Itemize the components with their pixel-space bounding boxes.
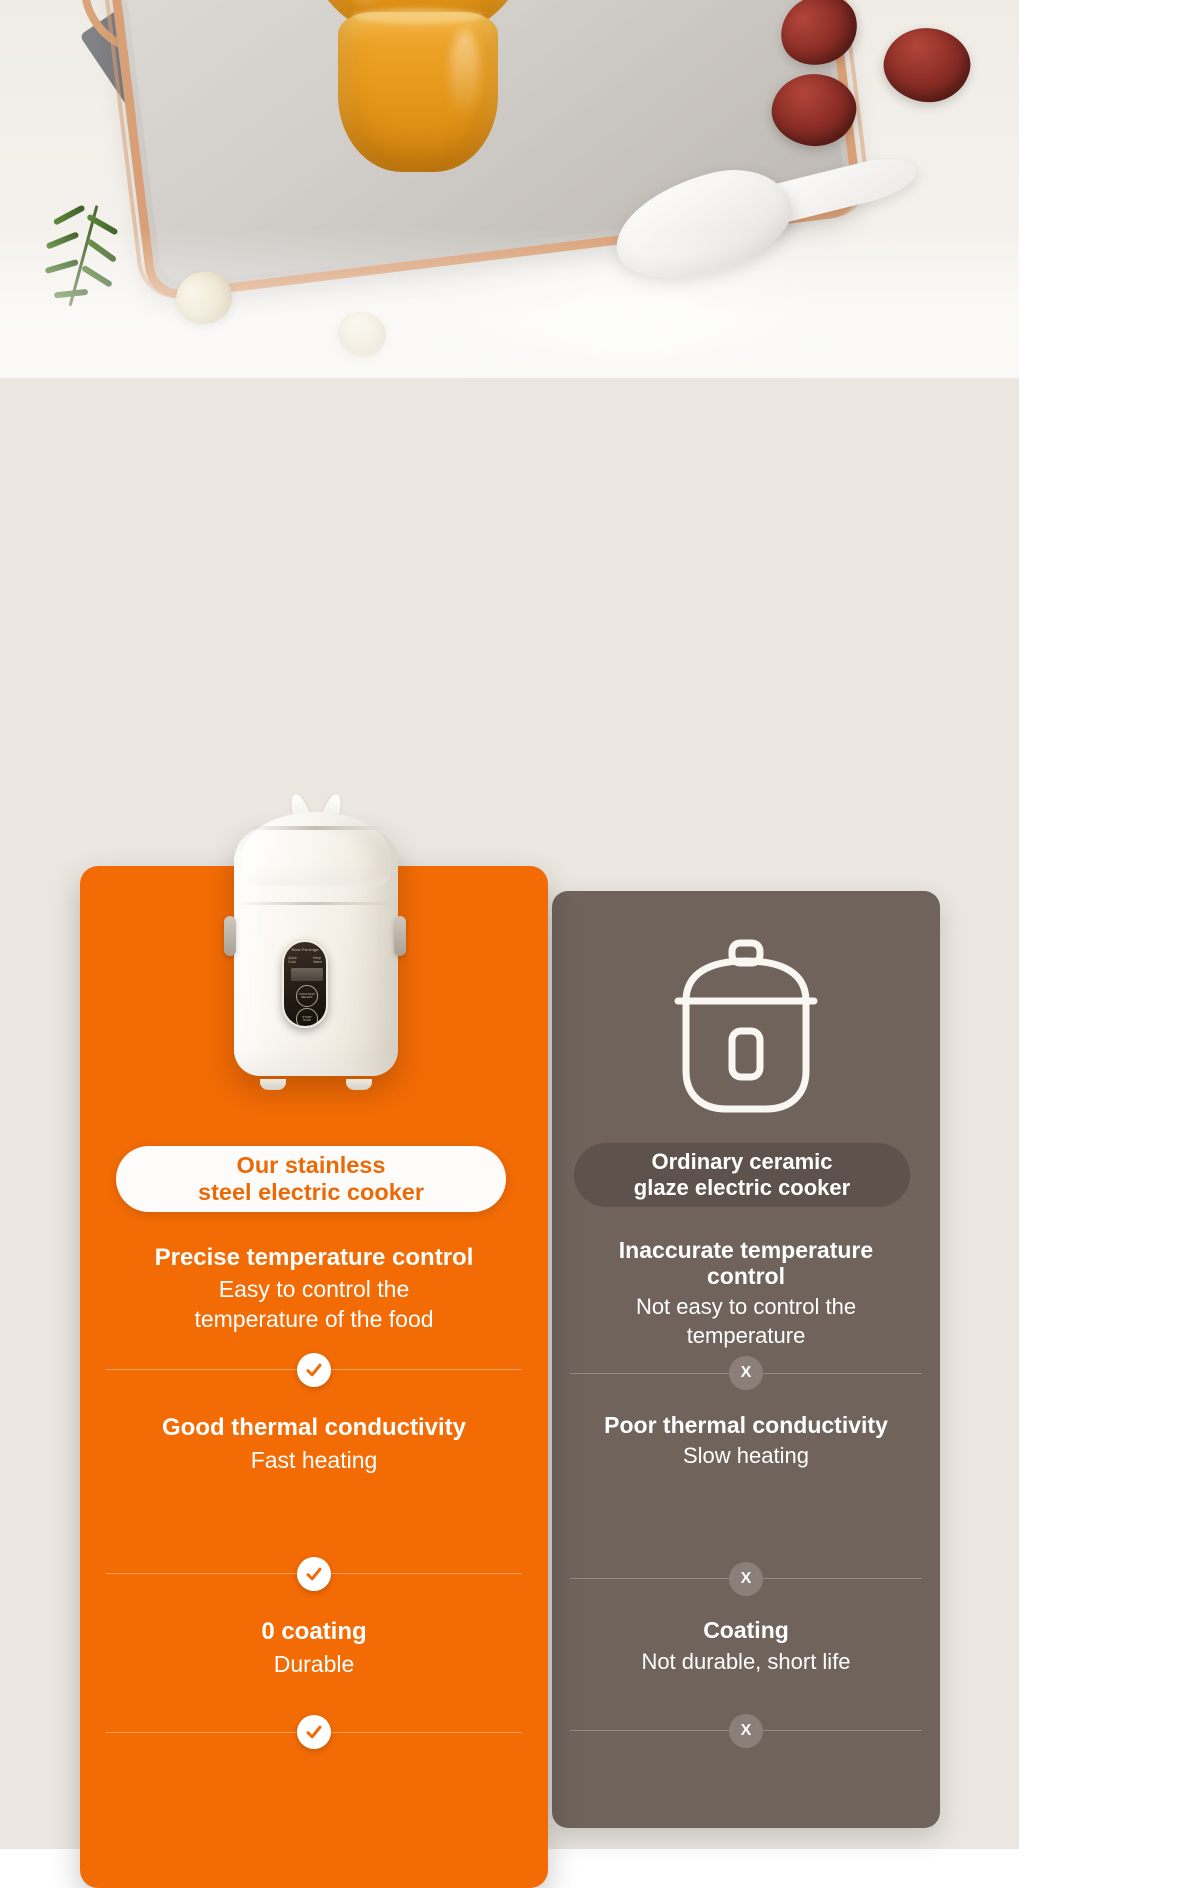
our-feature-1-sub-line-1: Easy to control the <box>219 1276 410 1302</box>
our-feature-2: Good thermal conductivity Fast heating <box>106 1414 522 1475</box>
our-divider-1 <box>106 1369 522 1370</box>
cooker-body-seam <box>236 902 396 905</box>
cross-glyph: X <box>741 1722 752 1740</box>
panel-mode-left-line-2: Cook <box>288 960 296 964</box>
electric-cooker-photo: Slow Porridge Quick Cook Keep Warm <box>220 796 410 1096</box>
cross-marker-icon: X <box>729 1562 763 1596</box>
right-gutter <box>1019 0 1200 1849</box>
our-feature-2-title: Good thermal conductivity <box>106 1414 522 1441</box>
panel-button-2-line-2: STOP <box>303 1018 311 1022</box>
sprig-leaf <box>53 204 86 225</box>
cross-glyph: X <box>741 1364 752 1382</box>
ordinary-feature-2-title: Poor thermal conductivity <box>570 1412 922 1438</box>
ordinary-feature-3: Coating Not durable, short life <box>570 1617 922 1676</box>
check-icon <box>305 1723 323 1741</box>
our-divider-2 <box>106 1573 522 1574</box>
ordinary-feature-1-title-line-1: Inaccurate temperature <box>619 1237 873 1263</box>
our-feature-1: Precise temperature control Easy to cont… <box>106 1244 522 1335</box>
panel-mode-right-line-2: Warm <box>313 960 322 964</box>
cooker-feet <box>260 1078 372 1090</box>
panel-function-button: FUNCTION SELECT <box>296 985 318 1007</box>
ordinary-feature-2: Poor thermal conductivity Slow heating <box>570 1412 922 1471</box>
our-feature-1-sub-line-2: temperature of the food <box>194 1306 433 1332</box>
our-cooker-title-pill: Our stainless steel electric cooker <box>116 1146 506 1212</box>
cooker-handle-right <box>394 916 406 956</box>
cross-marker-icon: X <box>729 1714 763 1748</box>
ordinary-feature-1-title-line-2: control <box>707 1263 785 1289</box>
our-feature-1-sub: Easy to control the temperature of the f… <box>106 1275 522 1335</box>
our-title-line-1: Our stainless <box>237 1152 386 1179</box>
check-icon <box>305 1565 323 1583</box>
ordinary-title-line-2: glaze electric cooker <box>634 1175 850 1201</box>
panel-mode-labels: Quick Cook Keep Warm <box>288 956 322 965</box>
our-feature-3-title: 0 coating <box>106 1618 522 1645</box>
honey-jar-icon <box>300 0 535 180</box>
ordinary-feature-1: Inaccurate temperature control Not easy … <box>570 1237 922 1351</box>
check-marker-icon <box>297 1715 331 1749</box>
ordinary-divider-1: X <box>570 1373 922 1374</box>
ordinary-feature-2-sub-line-1: Slow heating <box>683 1443 809 1468</box>
ordinary-feature-3-title-line-1: Coating <box>703 1617 789 1643</box>
panel-mode-right: Keep Warm <box>313 956 322 965</box>
ordinary-feature-1-title: Inaccurate temperature control <box>570 1237 922 1289</box>
check-marker-icon <box>297 1353 331 1387</box>
cross-glyph: X <box>741 1570 752 1588</box>
our-title-line-2: steel electric cooker <box>198 1179 424 1206</box>
our-divider-3 <box>106 1732 522 1733</box>
ordinary-feature-1-sub: Not easy to control the temperature <box>570 1293 922 1350</box>
check-icon <box>305 1361 323 1379</box>
panel-button-1-line-2: SELECT <box>301 995 313 999</box>
counter-sheen <box>0 228 1019 378</box>
panel-title: Slow Porridge <box>284 947 326 952</box>
our-feature-2-sub: Fast heating <box>106 1446 522 1476</box>
jar-neck <box>352 8 484 24</box>
ordinary-cooker-card: Ordinary ceramic glaze electric cooker I… <box>552 891 940 1828</box>
our-cooker-card: Slow Porridge Quick Cook Keep Warm <box>80 866 548 1888</box>
jar-highlight-right <box>450 30 480 120</box>
our-feature-3-sub: Durable <box>106 1650 522 1680</box>
product-infographic-page: Ordinary ceramic glaze electric cooker I… <box>0 0 1019 1849</box>
panel-mode-left: Quick Cook <box>288 956 297 965</box>
ordinary-feature-2-title-line-1: Poor thermal conductivity <box>604 1412 888 1438</box>
comparison-section: Ordinary ceramic glaze electric cooker I… <box>0 378 1019 1849</box>
cooker-lid <box>242 812 390 886</box>
our-feature-list: Precise temperature control Easy to cont… <box>106 1244 522 1733</box>
ordinary-feature-2-sub: Slow heating <box>570 1442 922 1471</box>
ordinary-title-line-1: Ordinary ceramic <box>652 1149 833 1175</box>
ordinary-feature-list: Inaccurate temperature control Not easy … <box>570 1237 922 1731</box>
panel-display-screen <box>291 968 323 981</box>
ordinary-divider-3: X <box>570 1730 922 1731</box>
ordinary-feature-1-sub-line-1: Not easy to control the <box>636 1294 856 1319</box>
ordinary-feature-3-sub: Not durable, short life <box>570 1648 922 1677</box>
ordinary-feature-3-sub-line-1: Not durable, short life <box>641 1649 850 1674</box>
check-marker-icon <box>297 1557 331 1591</box>
ordinary-feature-3-title: Coating <box>570 1617 922 1643</box>
rice-cooker-outline-icon <box>672 939 820 1117</box>
hero-food-photo <box>0 0 1019 378</box>
ordinary-cooker-title-pill: Ordinary ceramic glaze electric cooker <box>574 1143 910 1207</box>
ordinary-divider-2: X <box>570 1578 922 1579</box>
cooker-control-panel: Slow Porridge Quick Cook Keep Warm <box>282 940 328 1028</box>
panel-start-button: START STOP <box>296 1008 318 1028</box>
cooker-lid-seam <box>248 826 384 830</box>
our-feature-3: 0 coating Durable <box>106 1618 522 1679</box>
cross-marker-icon: X <box>729 1356 763 1390</box>
cooker-handle-left <box>224 916 236 956</box>
our-feature-1-title: Precise temperature control <box>106 1244 522 1271</box>
ordinary-feature-1-sub-line-2: temperature <box>687 1323 806 1348</box>
